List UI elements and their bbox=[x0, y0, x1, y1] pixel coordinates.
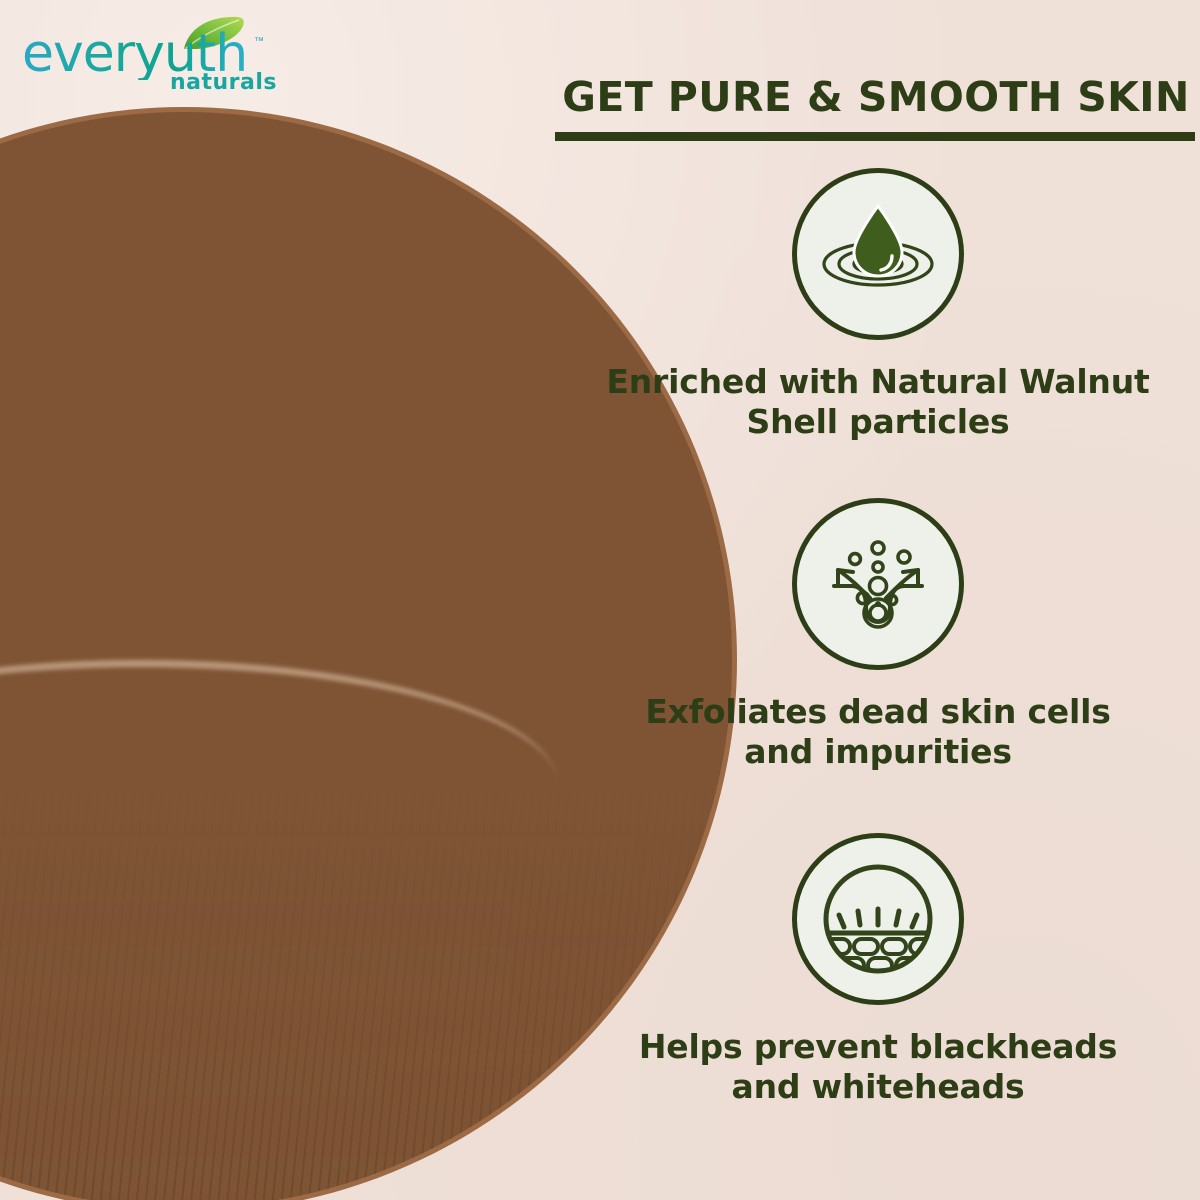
promo-banner: everyuth ™ naturals GET PURE & SMOOTH SK… bbox=[0, 0, 1200, 1200]
skin-cross-section-icon bbox=[792, 833, 964, 1005]
feature-caption-2: Exfoliates dead skin cells and impuritie… bbox=[568, 692, 1188, 773]
feature-block-3: Helps prevent blackheads and whiteheads bbox=[568, 833, 1188, 1108]
feature-caption-1-line1: Enriched with Natural Walnut bbox=[606, 362, 1149, 401]
trademark-symbol: ™ bbox=[254, 36, 264, 47]
feature-block-2: Exfoliates dead skin cells and impuritie… bbox=[568, 498, 1188, 773]
feature-caption-3-line1: Helps prevent blackheads bbox=[639, 1027, 1117, 1066]
pore-exfoliation-arrows-icon bbox=[792, 498, 964, 670]
logo-tagline: naturals bbox=[170, 72, 277, 94]
feature-block-1: Enriched with Natural Walnut Shell parti… bbox=[568, 168, 1188, 443]
feature-caption-2-line2: and impurities bbox=[568, 732, 1188, 772]
feature-caption-3-line2: and whiteheads bbox=[568, 1067, 1188, 1107]
feature-caption-1: Enriched with Natural Walnut Shell parti… bbox=[568, 362, 1188, 443]
feature-caption-1-line2: Shell particles bbox=[568, 402, 1188, 442]
feature-caption-3: Helps prevent blackheads and whiteheads bbox=[568, 1027, 1188, 1108]
brand-logo[interactable]: everyuth ™ naturals bbox=[22, 14, 282, 100]
feature-caption-2-line1: Exfoliates dead skin cells bbox=[645, 692, 1110, 731]
water-droplet-ripple-icon bbox=[792, 168, 964, 340]
